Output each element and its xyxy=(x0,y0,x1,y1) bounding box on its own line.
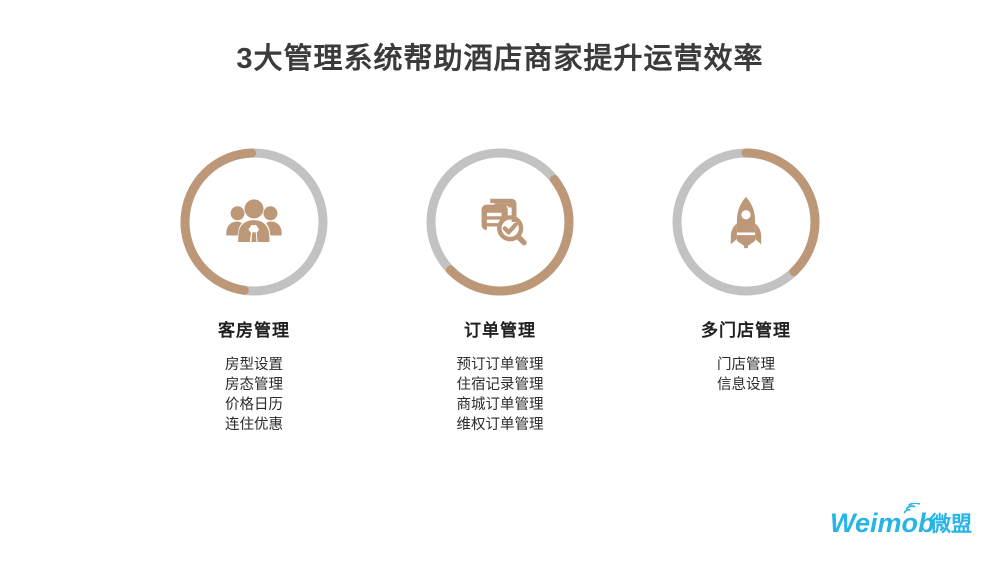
feature-column-3: 多门店管理 门店管理 信息设置 xyxy=(623,144,869,395)
rocket-icon xyxy=(668,144,824,300)
weimob-cjk-wordmark: 微盟 xyxy=(929,512,972,536)
feature-list-2: 预订订单管理 住宿记录管理 商城订单管理 维权订单管理 xyxy=(457,355,544,435)
feature-columns: 客房管理 房型设置 房态管理 价格日历 连住优惠 xyxy=(0,144,1000,435)
progress-ring-2 xyxy=(422,144,578,300)
feature-column-1: 客房管理 房型设置 房态管理 价格日历 连住优惠 xyxy=(131,144,377,435)
list-item: 信息设置 xyxy=(717,375,775,395)
slide-canvas: 3大管理系统帮助酒店商家提升运营效率 xyxy=(0,0,1000,563)
feature-title-2: 订单管理 xyxy=(464,316,536,341)
progress-ring-1 xyxy=(176,144,332,300)
list-item: 维权订单管理 xyxy=(457,415,544,435)
document-search-check-icon xyxy=(422,144,578,300)
list-item: 连住优惠 xyxy=(225,415,283,435)
list-item: 商城订单管理 xyxy=(457,395,544,415)
weimob-logo-graphic: Weimob 微盟 xyxy=(830,503,978,539)
weimob-logo: Weimob 微盟 xyxy=(830,505,978,539)
list-item: 预订订单管理 xyxy=(457,355,544,375)
feature-column-2: 订单管理 预订订单管理 住宿记录管理 商城订单管理 维权订单管理 xyxy=(377,144,623,435)
people-group-icon xyxy=(176,144,332,300)
page-title: 3大管理系统帮助酒店商家提升运营效率 xyxy=(0,42,1000,77)
list-item: 房型设置 xyxy=(225,355,283,375)
feature-list-1: 房型设置 房态管理 价格日历 连住优惠 xyxy=(225,355,283,435)
list-item: 住宿记录管理 xyxy=(457,375,544,395)
weimob-wordmark: Weimob xyxy=(830,508,935,538)
list-item: 房态管理 xyxy=(225,375,283,395)
list-item: 门店管理 xyxy=(717,355,775,375)
feature-title-1: 客房管理 xyxy=(218,316,290,341)
progress-ring-3 xyxy=(668,144,824,300)
list-item: 价格日历 xyxy=(225,395,283,415)
feature-list-3: 门店管理 信息设置 xyxy=(717,355,775,395)
feature-title-3: 多门店管理 xyxy=(701,316,791,341)
